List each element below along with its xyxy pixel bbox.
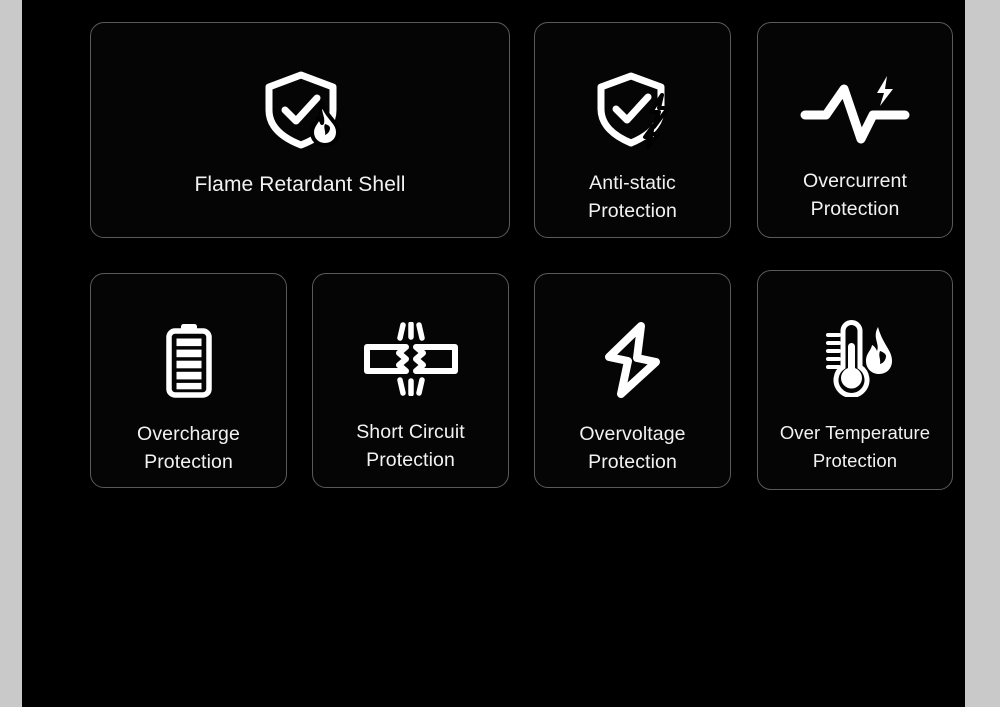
feature-card-label-line2: Protection (588, 451, 677, 473)
feature-card-label-line1: Short Circuit (356, 421, 465, 443)
feature-card-label: Overcharge Protection (91, 420, 286, 476)
feature-card-label-line2: Protection (813, 450, 897, 471)
thermometer-flame-icon (758, 319, 952, 397)
shield-check-flame-icon (91, 70, 509, 150)
feature-card-label-line1: Anti-static (589, 172, 676, 194)
feature-card-label: Flame Retardant Shell (91, 171, 509, 199)
dark-canvas: Flame Retardant Shell Anti-static Protec… (22, 0, 965, 707)
feature-card-over-temperature-protection[interactable]: Over Temperature Protection (757, 270, 953, 490)
feature-card-short-circuit-protection[interactable]: Short Circuit Protection (312, 273, 509, 488)
feature-card-label: Overcurrent Protection (758, 167, 952, 223)
feature-card-overcurrent-protection[interactable]: Overcurrent Protection (757, 22, 953, 238)
feature-card-anti-static-protection[interactable]: Anti-static Protection (534, 22, 731, 238)
shield-check-spark-icon (535, 71, 730, 149)
left-gutter (0, 0, 22, 707)
feature-card-label-line1: Overcurrent (803, 170, 907, 192)
waveform-bolt-icon (758, 73, 952, 145)
right-gutter (965, 0, 1000, 707)
feature-card-label-line2: Protection (811, 198, 900, 220)
feature-card-label-line1: Overcharge (137, 423, 240, 445)
feature-card-label: Overvoltage Protection (535, 420, 730, 476)
broken-circuit-icon (313, 322, 508, 396)
feature-card-label: Anti-static Protection (535, 169, 730, 225)
lightning-bolt-outline-icon (535, 322, 730, 398)
battery-full-icon (91, 322, 286, 398)
feature-card-label-line1: Overvoltage (579, 423, 685, 445)
feature-card-flame-retardant-shell[interactable]: Flame Retardant Shell (90, 22, 510, 238)
feature-card-overvoltage-protection[interactable]: Overvoltage Protection (534, 273, 731, 488)
feature-card-label: Over Temperature Protection (758, 419, 952, 475)
feature-card-label: Short Circuit Protection (313, 418, 508, 474)
feature-card-label-line2: Protection (588, 200, 677, 222)
feature-card-label-line2: Protection (144, 451, 233, 473)
protection-features-panel: Flame Retardant Shell Anti-static Protec… (0, 0, 1000, 707)
feature-card-label-line1: Over Temperature (780, 422, 930, 443)
feature-card-label-line2: Protection (366, 449, 455, 471)
feature-card-overcharge-protection[interactable]: Overcharge Protection (90, 273, 287, 488)
